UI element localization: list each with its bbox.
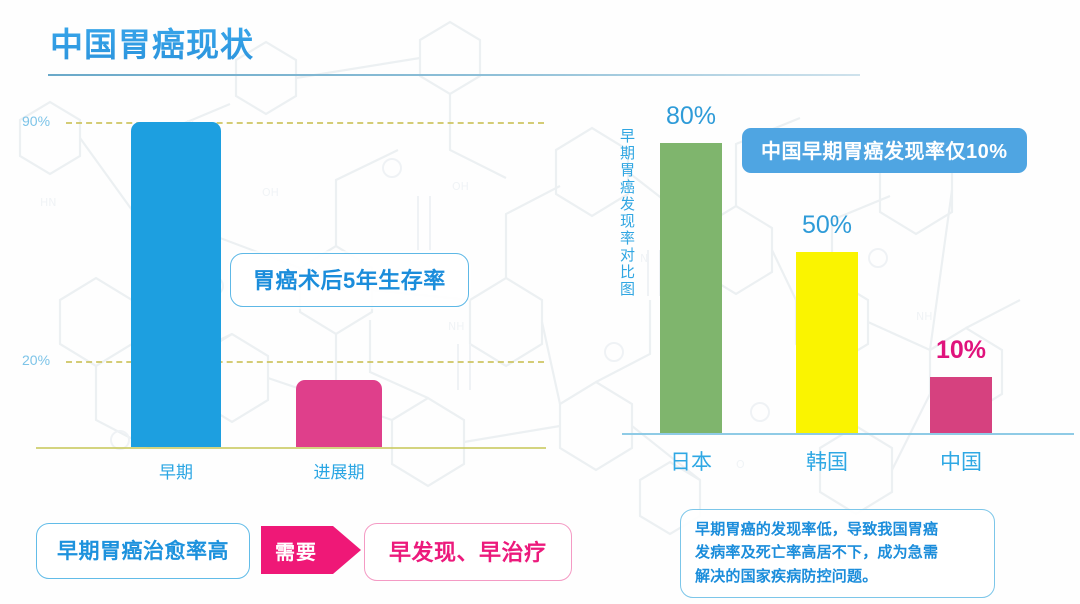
survival-rate-chart: 90% 20% 早期 进展期 胃癌术后5年生存率 [0,86,600,506]
bar-advanced-stage [296,380,382,447]
category-label-advanced: 进展期 [289,458,389,483]
note-line-3: 解决的国家疾病防控问题。 [695,565,982,588]
slide-canvas: OH HN OH NH N NH O N 中国胃癌现状 90% 20% 早期 进… [0,0,1080,604]
value-label-china: 10% [916,336,1006,365]
bar-korea [796,252,858,433]
x-axis-line [622,433,1074,435]
need-arrow-badge: 需要 [261,526,361,574]
y-axis-title: 早期胃癌发现率对比图 [610,128,636,423]
title-divider [48,74,860,76]
survival-rate-callout: 胃癌术后5年生存率 [230,253,469,307]
category-label-china: 中国 [916,446,1006,476]
slide-header: 中国胃癌现状 [0,0,1080,86]
bar-early-stage [131,122,221,447]
note-line-2: 发病率及死亡率高居不下，成为急需 [695,541,982,564]
value-label-japan: 80% [646,102,736,131]
category-label-korea: 韩国 [782,446,872,476]
bottom-conclusion-row: 早期胃癌治愈率高 需要 早发现、早治疗 早期胃癌的发现率低，导致我国胃癌 发病率… [0,506,1080,604]
x-axis-line [36,447,546,449]
cure-rate-badge: 早期胃癌治愈率高 [36,523,250,579]
early-detection-badge: 早发现、早治疗 [364,523,572,581]
detection-rate-chart: 早期胃癌发现率对比图 80% 50% 10% 日本 韩国 中国 中国早期胃癌发现… [600,86,1080,506]
detection-rate-banner: 中国早期胃癌发现率仅10% [742,128,1027,173]
page-title: 中国胃癌现状 [50,18,254,66]
y-tick-90: 90% [22,113,50,129]
bar-japan [660,143,722,433]
category-label-early: 早期 [131,458,221,483]
value-label-korea: 50% [782,211,872,240]
conclusion-note-box: 早期胃癌的发现率低，导致我国胃癌 发病率及死亡率高居不下，成为急需 解决的国家疾… [680,509,995,598]
note-line-1: 早期胃癌的发现率低，导致我国胃癌 [695,518,982,541]
category-label-japan: 日本 [646,446,736,476]
bar-china [930,377,992,433]
y-tick-20: 20% [22,352,50,368]
